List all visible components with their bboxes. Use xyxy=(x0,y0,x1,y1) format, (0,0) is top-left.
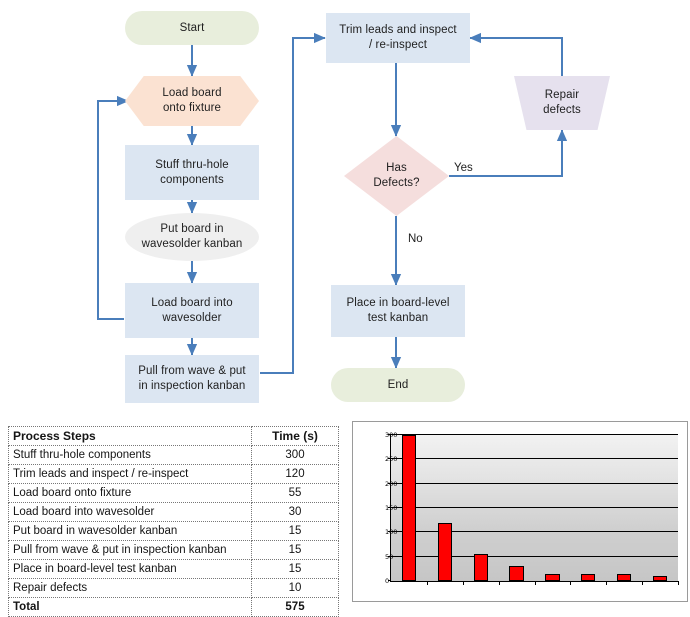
chart-gridline xyxy=(391,458,678,459)
cell-step-time: 15 xyxy=(252,560,339,579)
chart-x-tick-mark xyxy=(427,581,428,585)
chart-y-tick-label: 200 xyxy=(385,480,386,488)
chart-inner-frame: 050100150200250300 xyxy=(358,427,682,596)
cell-step-time: 120 xyxy=(252,465,339,484)
chart-x-tick-mark xyxy=(570,581,571,585)
chart-bar xyxy=(545,574,559,581)
process-steps-table: Process Steps Time (s) Stuff thru-hole c… xyxy=(8,426,339,617)
edge-label-no: No xyxy=(408,233,423,245)
chart-gridline xyxy=(391,507,678,508)
cell-step-time: 15 xyxy=(252,522,339,541)
table-row: Trim leads and inspect / re-inspect120 xyxy=(9,465,339,484)
chart-y-tick-label: 150 xyxy=(385,504,386,512)
node-trim-leads-and-inspect[interactable]: Trim leads and inspect / re-inspect xyxy=(326,13,470,63)
table-row: Stuff thru-hole components300 xyxy=(9,446,339,465)
process-time-bar-chart: 050100150200250300 xyxy=(352,421,688,602)
node-put-board-in-wavesolder-kanban[interactable]: Put board in wavesolder kanban xyxy=(125,213,259,261)
chart-y-tick-label: 250 xyxy=(385,455,386,463)
edge-label-yes: Yes xyxy=(454,162,473,174)
chart-bar xyxy=(402,435,416,581)
node-pull-from-wave[interactable]: Pull from wave & put in inspection kanba… xyxy=(125,355,259,403)
column-header-process-steps: Process Steps xyxy=(9,427,252,446)
chart-bar xyxy=(474,554,488,581)
chart-x-tick-mark xyxy=(678,581,679,585)
chart-x-tick-mark xyxy=(606,581,607,585)
node-load-board-onto-fixture[interactable]: Load board onto fixture xyxy=(125,76,259,126)
cell-step-name: Pull from wave & put in inspection kanba… xyxy=(9,541,252,560)
cell-step-time: 300 xyxy=(252,446,339,465)
node-end[interactable]: End xyxy=(331,368,465,402)
cell-step-time: 55 xyxy=(252,484,339,503)
chart-x-tick-mark xyxy=(463,581,464,585)
node-repair-defects[interactable]: Repair defects xyxy=(514,76,610,130)
edge-pullwave-to-trim xyxy=(260,38,325,373)
table-row: Put board in wavesolder kanban15 xyxy=(9,522,339,541)
chart-x-tick-mark xyxy=(642,581,643,585)
table-row: Repair defects10 xyxy=(9,579,339,598)
node-stuff-thru-hole-components[interactable]: Stuff thru-hole components xyxy=(125,145,259,200)
chart-bar xyxy=(653,576,667,581)
cell-step-name: Load board into wavesolder xyxy=(9,503,252,522)
chart-bar xyxy=(617,574,631,581)
table-row: Load board onto fixture55 xyxy=(9,484,339,503)
cell-step-name: Repair defects xyxy=(9,579,252,598)
node-load-board-into-wavesolder[interactable]: Load board into wavesolder xyxy=(125,283,259,338)
edge-repair-to-trim xyxy=(470,38,562,76)
table-row: Load board into wavesolder30 xyxy=(9,503,339,522)
chart-bar xyxy=(438,523,452,581)
chart-bar xyxy=(581,574,595,581)
chart-y-tick-label: 300 xyxy=(385,431,386,439)
cell-step-time: 15 xyxy=(252,541,339,560)
process-flowchart: Start Load board onto fixture Stuff thru… xyxy=(0,0,690,415)
edge-loadwave-loop-to-loadfixture xyxy=(98,101,128,319)
chart-plot-area: 050100150200250300 xyxy=(390,435,678,582)
table-header-row: Process Steps Time (s) xyxy=(9,427,339,446)
chart-y-tick-label: 50 xyxy=(385,553,386,561)
cell-step-name: Place in board-level test kanban xyxy=(9,560,252,579)
node-start[interactable]: Start xyxy=(125,11,259,45)
cell-step-name: Stuff thru-hole components xyxy=(9,446,252,465)
page-root: Start Load board onto fixture Stuff thru… xyxy=(0,0,690,604)
cell-step-time: 10 xyxy=(252,579,339,598)
table-row: Place in board-level test kanban15 xyxy=(9,560,339,579)
chart-gridline xyxy=(391,531,678,532)
chart-x-tick-mark xyxy=(535,581,536,585)
table-body: Stuff thru-hole components300Trim leads … xyxy=(9,446,339,617)
process-steps-table-container: Process Steps Time (s) Stuff thru-hole c… xyxy=(8,426,339,617)
cell-step-name: Put board in wavesolder kanban xyxy=(9,522,252,541)
chart-y-tick-label: 0 xyxy=(385,577,386,585)
cell-total-label: Total xyxy=(9,598,252,617)
chart-gridline xyxy=(391,483,678,484)
chart-gridline xyxy=(391,556,678,557)
table-row: Pull from wave & put in inspection kanba… xyxy=(9,541,339,560)
table-total-row: Total575 xyxy=(9,598,339,617)
chart-bar xyxy=(509,566,523,581)
cell-step-time: 30 xyxy=(252,503,339,522)
node-place-in-board-level-test-kanban[interactable]: Place in board-level test kanban xyxy=(331,285,465,337)
cell-step-name: Load board onto fixture xyxy=(9,484,252,503)
chart-gridline xyxy=(391,434,678,435)
cell-step-name: Trim leads and inspect / re-inspect xyxy=(9,465,252,484)
chart-y-tick-label: 100 xyxy=(385,528,386,536)
chart-x-tick-mark xyxy=(499,581,500,585)
column-header-time: Time (s) xyxy=(252,427,339,446)
cell-total-value: 575 xyxy=(252,598,339,617)
